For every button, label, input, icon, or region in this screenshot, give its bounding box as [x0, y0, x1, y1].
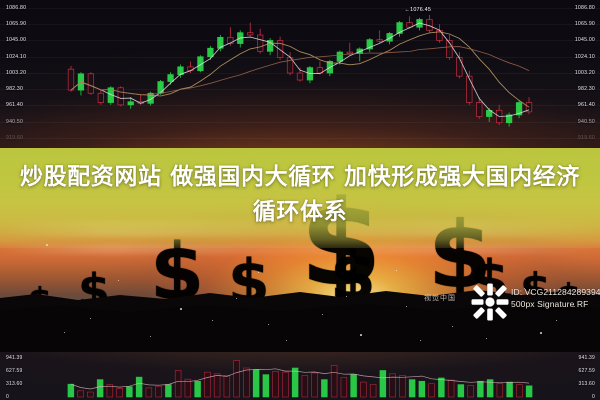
price-tick-left: 961.40	[6, 102, 23, 108]
volume-tick-right: 0	[592, 394, 595, 400]
volume-tick-left: 627.59	[6, 368, 23, 374]
price-tick-left: 919.60	[6, 135, 23, 141]
volume-tick-right: 313.60	[579, 381, 596, 387]
volume-axis-right: 941.39627.59313.600	[536, 352, 600, 400]
price-tick-left: 1045.00	[6, 37, 26, 43]
price-tick-left: 1086.80	[6, 5, 26, 11]
volume-tick-right: 627.59	[579, 368, 596, 374]
price-tick-right: 1065.90	[575, 21, 595, 27]
volume-series	[0, 352, 600, 400]
volume-axis-left: 941.39627.59313.600	[0, 352, 64, 400]
price-tick-right: 961.40	[578, 102, 595, 108]
price-tick-left: 940.50	[6, 119, 23, 125]
price-tick-right: 940.50	[578, 119, 595, 125]
price-chart-panel: ←1076.45 1086.801065.901045.001024.10100…	[0, 0, 600, 160]
watermark-id: ID: VCG211284289394	[511, 286, 600, 298]
volume-tick-left: 0	[6, 394, 9, 400]
price-tick-left: 1024.10	[6, 54, 26, 60]
price-axis-right: 1086.801065.901045.001024.101003.20982.3…	[536, 0, 600, 160]
price-tick-right: 982.30	[578, 86, 595, 92]
price-axis-left: 1086.801065.901045.001024.101003.20982.3…	[0, 0, 64, 160]
visual-china-asterisk-icon	[470, 282, 510, 322]
volume-tick-left: 313.60	[6, 381, 23, 387]
watermark: 视觉中国 ID: VCG211284289394 500px Signature…	[424, 280, 600, 324]
image-canvas: ←1076.45 1086.801065.901045.001024.10100…	[0, 0, 600, 400]
volume-chart-panel: 941.39627.59313.600 941.39627.59313.600	[0, 352, 600, 400]
price-tick-right: 1086.80	[575, 5, 595, 11]
price-tick-right: 1045.00	[575, 37, 595, 43]
price-tick-left: 1003.20	[6, 70, 26, 76]
price-tick-right: 1003.20	[575, 70, 595, 76]
watermark-license: 500px Signature RF	[511, 298, 600, 310]
price-tick-left: 982.30	[6, 86, 23, 92]
price-tick-right: 1024.10	[575, 54, 595, 60]
volume-tick-left: 941.39	[6, 355, 23, 361]
watermark-brand-cn: 视觉中国	[424, 293, 456, 303]
price-tick-left: 1065.90	[6, 21, 26, 27]
price-annotation: ←1076.45	[405, 7, 431, 13]
page-headline: 炒股配资网站 做强国内大循环 加快形成强大国内经济循环体系	[0, 160, 600, 230]
candlestick-series	[0, 0, 600, 160]
price-tick-right: 919.60	[578, 135, 595, 141]
volume-tick-right: 941.39	[579, 355, 596, 361]
